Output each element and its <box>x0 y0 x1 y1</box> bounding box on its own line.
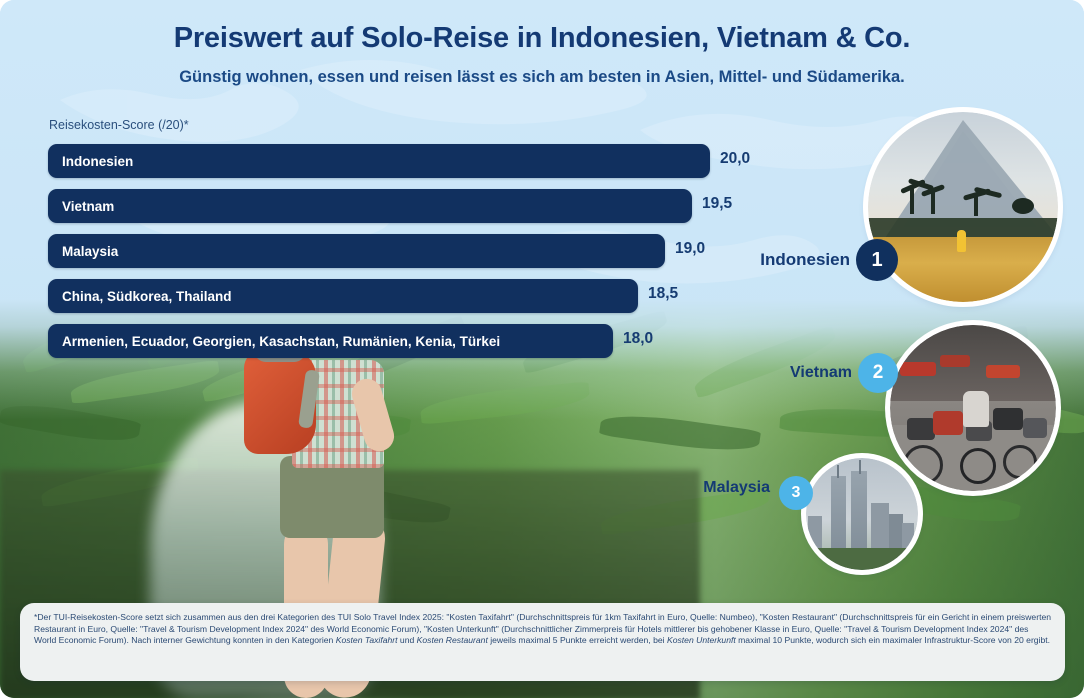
bar-armenien-ecuador-georgien[interactable]: Armenien, Ecuador, Georgien, Kasachstan,… <box>48 324 613 358</box>
page-subtitle: Günstig wohnen, essen und reisen lässt e… <box>0 68 1084 87</box>
bar-row: Armenien, Ecuador, Georgien, Kasachstan,… <box>48 324 748 369</box>
bar-value: 18,5 <box>648 285 678 303</box>
bar-row: Malaysia 19,0 <box>48 234 748 279</box>
bar-value: 18,0 <box>623 330 653 348</box>
footnote-mid-2: jeweils maximal 5 Punkte erreicht werden… <box>488 635 667 645</box>
footnote-italic-1: Kosten Taxifahrt <box>336 635 398 645</box>
rank-badge-2[interactable]: 2 <box>858 353 898 393</box>
footnote-mid-1: und <box>398 635 417 645</box>
bar-value: 19,5 <box>702 195 732 213</box>
bar-label: Malaysia <box>48 244 118 259</box>
bar-label: Vietnam <box>48 199 114 214</box>
footnote-tail: maximal 10 Punkte, wodurch sich ein maxi… <box>736 635 1050 645</box>
page-title: Preiswert auf Solo-Reise in Indonesien, … <box>0 22 1084 55</box>
bar-indonesien[interactable]: Indonesien <box>48 144 710 178</box>
infographic: Preiswert auf Solo-Reise in Indonesien, … <box>0 0 1084 698</box>
rank-badge-1[interactable]: 1 <box>856 239 898 281</box>
photo-malaysia[interactable] <box>806 458 918 570</box>
bar-chart: Indonesien 20,0 Vietnam 19,5 Malaysia 19… <box>48 144 748 369</box>
rank-badge-3[interactable]: 3 <box>779 476 813 510</box>
footnote: *Der TUI-Reisekosten-Score setzt sich zu… <box>20 603 1065 681</box>
bar-row: Indonesien 20,0 <box>48 144 748 189</box>
bar-malaysia[interactable]: Malaysia <box>48 234 665 268</box>
footnote-italic-2: Kosten Restaurant <box>417 635 488 645</box>
photo-indonesien[interactable] <box>868 112 1058 302</box>
bar-china-suedkorea-thailand[interactable]: China, Südkorea, Thailand <box>48 279 638 313</box>
bar-row: Vietnam 19,5 <box>48 189 748 234</box>
rank-name-1: Indonesien <box>700 250 850 270</box>
bar-value: 20,0 <box>720 150 750 168</box>
axis-label: Reisekosten-Score (/20)* <box>49 118 189 132</box>
bar-vietnam[interactable]: Vietnam <box>48 189 692 223</box>
bar-label: China, Südkorea, Thailand <box>48 289 232 304</box>
footnote-italic-3: Kosten Unterkunft <box>667 635 736 645</box>
bar-label: Indonesien <box>48 154 133 169</box>
rank-name-2: Vietnam <box>700 364 852 382</box>
rank-name-3: Malaysia <box>620 479 770 497</box>
bar-row: China, Südkorea, Thailand 18,5 <box>48 279 748 324</box>
bar-label: Armenien, Ecuador, Georgien, Kasachstan,… <box>48 334 500 349</box>
